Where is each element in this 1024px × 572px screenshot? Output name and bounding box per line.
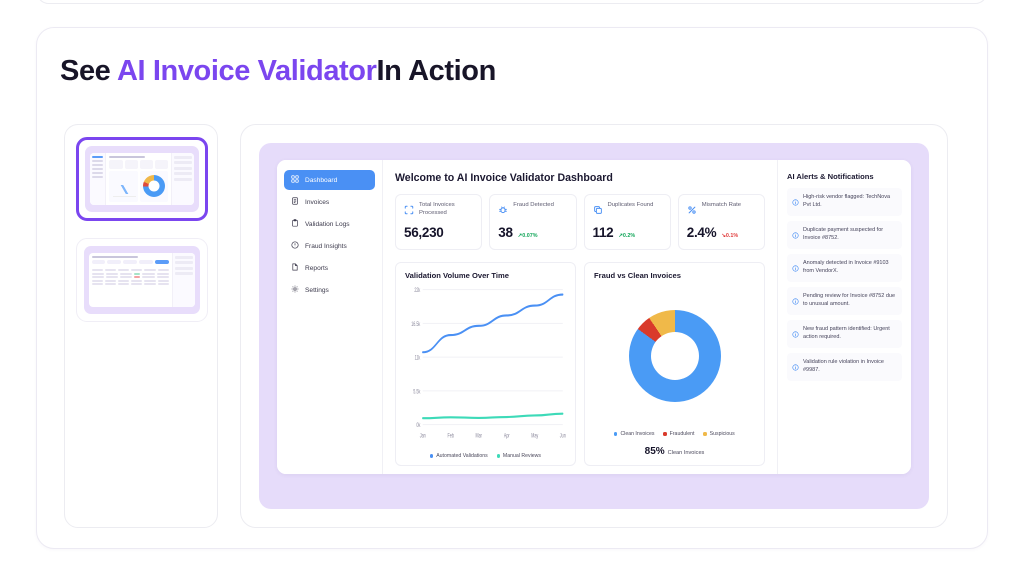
y-axis-tick: 5.5k xyxy=(413,389,420,396)
chart-card-validation-volume: Validation Volume Over Time 0k5.5k11k16.… xyxy=(395,262,576,466)
chart-title-validation-volume: Validation Volume Over Time xyxy=(405,271,566,280)
line-series-manual xyxy=(423,414,563,419)
preview-panel: Dashboard Invoices xyxy=(240,124,948,528)
x-axis-tick: Mar xyxy=(476,432,483,439)
legend-item-clean: Clean Invoices xyxy=(614,431,654,437)
sidebar-item-fraud-insights[interactable]: Fraud Insights xyxy=(284,236,375,256)
alert-text: High-risk vendor flagged: TechNova Pvt L… xyxy=(803,193,897,211)
sidebar-item-invoices[interactable]: Invoices xyxy=(284,192,375,212)
thumbnail-dashboard-frame xyxy=(85,146,199,212)
sidebar-label-dashboard: Dashboard xyxy=(305,177,337,184)
x-axis-tick: May xyxy=(531,432,538,439)
clipboard-icon xyxy=(291,219,299,229)
kpi-label-total-invoices: Total Invoices Processed xyxy=(419,202,473,218)
kpi-value-duplicates-found: 112 xyxy=(593,225,614,240)
alerts-title: AI Alerts & Notifications xyxy=(787,172,902,181)
thumb-table-aside xyxy=(172,253,195,307)
copy-icon xyxy=(593,202,603,220)
gear-icon xyxy=(291,285,299,295)
sidebar-label-reports: Reports xyxy=(305,265,328,272)
alert-item[interactable]: Anomaly detected in Invoice #9103 from V… xyxy=(787,254,902,282)
thumbnail-dashboard[interactable] xyxy=(76,137,208,221)
document-icon xyxy=(291,197,299,207)
info-circle-icon xyxy=(792,259,799,277)
alert-item[interactable]: Pending review for Invoice #8752 due to … xyxy=(787,287,902,315)
app-sidebar: Dashboard Invoices xyxy=(277,160,383,474)
kpi-label-duplicates-found: Duplicates Found xyxy=(608,202,654,210)
y-axis-tick: 22k xyxy=(414,287,420,294)
legend-swatch-manual xyxy=(497,454,500,457)
preview-lavender-frame: Dashboard Invoices xyxy=(259,143,929,509)
sidebar-label-invoices: Invoices xyxy=(305,199,329,206)
alerts-list: High-risk vendor flagged: TechNova Pvt L… xyxy=(787,188,902,381)
donut-plot xyxy=(594,284,755,428)
legend-item-fraudulent: Fraudulent xyxy=(663,431,694,437)
page-title: See AI Invoice ValidatorIn Action xyxy=(60,55,496,88)
kpi-delta-fraud-detected: ↗0.07% xyxy=(518,233,538,239)
x-axis-tick: Jun xyxy=(560,432,566,439)
chart-title-fraud-vs-clean: Fraud vs Clean Invoices xyxy=(594,271,755,280)
page-title-tail: In Action xyxy=(377,55,496,87)
kpi-label-fraud-detected: Fraud Detected xyxy=(513,202,554,210)
page-root: See AI Invoice ValidatorIn Action xyxy=(0,0,1024,572)
legend-swatch-suspicious xyxy=(703,432,706,435)
sidebar-item-validation-logs[interactable]: Validation Logs xyxy=(284,214,375,234)
chart-card-fraud-vs-clean: Fraud vs Clean Invoices Clean Invoices xyxy=(584,262,765,466)
kpi-delta-duplicates-found: ↗0.2% xyxy=(618,233,635,239)
x-axis-tick: Apr xyxy=(504,432,510,439)
legend-swatch-automated xyxy=(430,454,433,457)
scan-icon xyxy=(404,202,414,220)
page-title-lead: See xyxy=(60,55,117,87)
alert-text: Pending review for Invoice #8752 due to … xyxy=(803,292,897,310)
thumb-main xyxy=(106,153,171,206)
donut-stat-value: 85% xyxy=(645,446,665,457)
kpi-value-fraud-detected: 38 xyxy=(498,225,512,240)
grid-icon xyxy=(291,175,299,185)
y-axis-tick: 11k xyxy=(415,355,421,362)
kpi-card-total-invoices: Total Invoices Processed 56,230 xyxy=(395,194,482,250)
top-card-edge xyxy=(36,0,988,4)
kpi-label-mismatch-rate: Mismatch Rate xyxy=(702,202,741,210)
sidebar-item-dashboard[interactable]: Dashboard xyxy=(284,170,375,190)
legend-swatch-clean xyxy=(614,432,617,435)
donut-ring xyxy=(629,310,721,402)
thumb-alerts xyxy=(171,153,194,206)
sidebar-label-settings: Settings xyxy=(305,287,329,294)
kpi-delta-mismatch-rate: ↘0.1% xyxy=(721,233,738,239)
page-title-accent: AI Invoice Validator xyxy=(117,55,377,87)
alerts-panel: AI Alerts & Notifications High-risk vend… xyxy=(777,160,911,474)
bug-icon xyxy=(498,202,508,220)
kpi-card-duplicates-found: Duplicates Found 112 ↗0.2% xyxy=(584,194,671,250)
thumbnail-rail xyxy=(64,124,218,528)
file-icon xyxy=(291,263,299,273)
y-axis-tick: 0k xyxy=(416,422,420,429)
kpi-value-mismatch-rate: 2.4% xyxy=(687,225,717,240)
alert-text: New fraud pattern identified: Urgent act… xyxy=(803,325,897,343)
thumbnail-dashboard-preview xyxy=(90,153,195,206)
info-circle-icon xyxy=(792,358,799,376)
info-circle-icon xyxy=(792,226,799,244)
donut-center-stat: 85%Clean Invoices xyxy=(594,441,755,459)
y-axis-tick: 16.5k xyxy=(411,321,420,328)
sidebar-item-reports[interactable]: Reports xyxy=(284,258,375,278)
info-circle-icon xyxy=(792,193,799,211)
alert-text: Validation rule violation in Invoice #99… xyxy=(803,358,897,376)
thumb-table-main xyxy=(89,253,172,307)
alert-item[interactable]: New fraud pattern identified: Urgent act… xyxy=(787,320,902,348)
legend-item-manual: Manual Reviews xyxy=(497,453,541,459)
info-circle-icon xyxy=(792,325,799,343)
info-circle-icon xyxy=(792,292,799,310)
kpi-card-fraud-detected: Fraud Detected 38 ↗0.07% xyxy=(489,194,576,250)
legend-item-suspicious: Suspicious xyxy=(703,431,734,437)
alert-circle-icon xyxy=(291,241,299,251)
legend-fraud-vs-clean: Clean Invoices Fraudulent Suspicious xyxy=(594,431,755,437)
kpi-card-mismatch-rate: Mismatch Rate 2.4% ↘0.1% xyxy=(678,194,765,250)
app-window: Dashboard Invoices xyxy=(277,160,911,474)
legend-swatch-fraudulent xyxy=(663,432,666,435)
charts-row: Validation Volume Over Time 0k5.5k11k16.… xyxy=(395,262,765,466)
thumbnail-logs-preview xyxy=(89,253,196,307)
app-main: Welcome to AI Invoice Validator Dashboar… xyxy=(383,160,777,474)
x-axis-tick: Feb xyxy=(448,432,454,439)
alert-item[interactable]: Validation rule violation in Invoice #99… xyxy=(787,353,902,381)
thumbnail-logs-frame xyxy=(84,246,200,314)
percent-icon xyxy=(687,202,697,220)
alert-item[interactable]: Duplicate payment suspected for Invoice … xyxy=(787,221,902,249)
kpi-row: Total Invoices Processed 56,230 xyxy=(395,194,765,250)
thumb-sidebar xyxy=(90,153,107,206)
alert-text: Anomaly detected in Invoice #9103 from V… xyxy=(803,259,897,277)
sidebar-label-fraud-insights: Fraud Insights xyxy=(305,243,347,250)
legend-validation-volume: Automated Validations Manual Reviews xyxy=(405,453,566,459)
line-plot: 0k5.5k11k16.5k22kJanFebMarAprMayJun xyxy=(405,284,566,450)
x-axis-tick: Jan xyxy=(420,432,426,439)
sidebar-label-validation-logs: Validation Logs xyxy=(305,221,350,228)
alert-text: Duplicate payment suspected for Invoice … xyxy=(803,226,897,244)
thumbnail-validation-logs[interactable] xyxy=(76,238,208,322)
alert-item[interactable]: High-risk vendor flagged: TechNova Pvt L… xyxy=(787,188,902,216)
legend-item-automated: Automated Validations xyxy=(430,453,488,459)
dashboard-title: Welcome to AI Invoice Validator Dashboar… xyxy=(395,172,765,184)
sidebar-item-settings[interactable]: Settings xyxy=(284,280,375,300)
donut-stat-label: Clean Invoices xyxy=(668,450,705,456)
kpi-value-total-invoices: 56,230 xyxy=(404,225,444,240)
